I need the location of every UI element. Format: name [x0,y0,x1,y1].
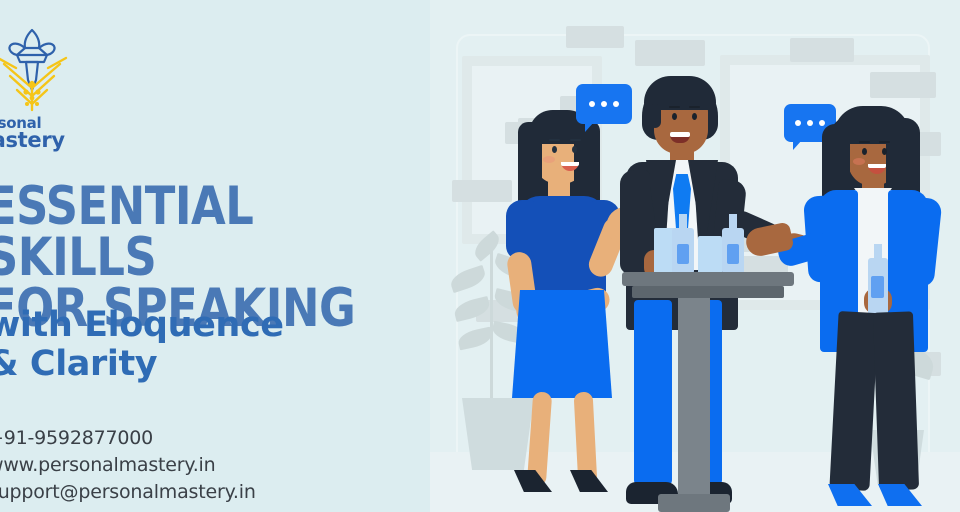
subheading-line-1: with Eloquence [0,306,448,345]
sideburn [649,104,661,128]
wall-block [635,40,705,66]
headline-line-1: ESSENTIAL SKILLS [0,182,428,284]
podium-top [622,272,794,286]
trousers-leg [873,311,919,490]
skirt [512,290,612,398]
eye [882,148,887,155]
teeth [670,132,690,137]
bottle-neck [729,214,737,230]
bottle-neck [679,214,687,230]
eyebrow [669,106,680,108]
eyebrow [859,141,870,143]
eyebrow [549,139,560,141]
bubble-dot [613,101,619,107]
teeth [868,164,886,168]
eyebrow [879,141,890,143]
bubble-dot [819,120,825,126]
speech-bubble-left [576,84,632,124]
cheek-blush [543,156,555,163]
eye [672,113,677,120]
drinking-glass [698,236,722,276]
podium-lip [632,286,784,298]
contact-website[interactable]: www.personalmastery.in [0,452,418,479]
trousers-leg [634,300,672,486]
eye [692,113,697,120]
bubble-dot [601,101,607,107]
podium-column [678,298,710,494]
illustration-panel [430,0,960,512]
bottle-label [727,244,739,264]
bottle-neck [874,244,882,260]
logo-text-mastery: mastery [0,128,65,152]
bottle-label [677,244,689,264]
cheek-blush [853,158,865,165]
subheading: with Eloquence & Clarity [0,306,448,384]
eyebrow [570,139,581,141]
eye [572,146,577,153]
lotus-flame-wheat-icon [0,18,78,114]
contact-email[interactable]: support@personalmastery.in [0,479,418,506]
bottle-label [871,276,884,298]
promo-banner: Personal mastery ESSENTIAL SKILLS FOR SP… [0,0,960,512]
bubble-dot [807,120,813,126]
wall-block [452,180,512,202]
contact-info: +91-9592877000 www.personalmastery.in su… [0,425,418,506]
teeth [561,162,579,166]
wall-block [790,38,854,62]
eye [552,146,557,153]
eye [862,148,867,155]
bubble-dot [589,101,595,107]
contact-phone[interactable]: +91-9592877000 [0,425,418,452]
brand-logo[interactable]: Personal mastery [0,18,78,138]
sleeve [506,200,536,260]
podium-base [658,494,730,512]
wall-block [870,72,936,98]
bubble-dot [795,120,801,126]
subheading-line-2: & Clarity [0,345,448,384]
wall-block [566,26,624,48]
eyebrow [689,106,700,108]
